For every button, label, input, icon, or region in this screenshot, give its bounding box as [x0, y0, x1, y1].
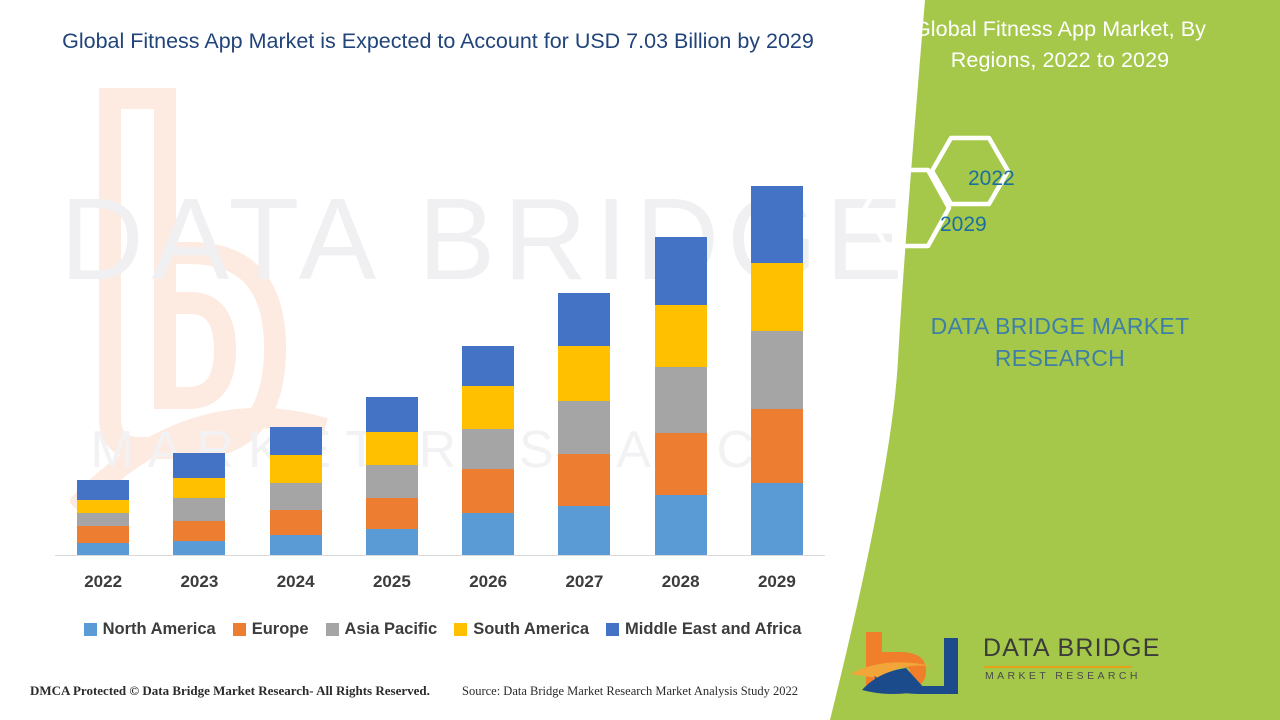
bar-segment[interactable] [751, 409, 803, 483]
legend-label: Asia Pacific [345, 620, 438, 639]
legend-item[interactable]: South America [454, 620, 589, 639]
bar-segment[interactable] [270, 510, 322, 535]
x-axis-label: 2024 [248, 572, 344, 592]
bar-segment[interactable] [77, 526, 129, 543]
bar-segment[interactable] [366, 529, 418, 556]
bar-segment[interactable] [462, 513, 514, 556]
x-axis-label: 2027 [536, 572, 632, 592]
bar-plot-area [55, 170, 825, 556]
legend-swatch [326, 623, 339, 636]
bar-segment[interactable] [751, 186, 803, 263]
chart-title: Global Fitness App Market is Expected to… [58, 25, 818, 58]
bar-column[interactable] [366, 397, 418, 556]
bar-segment[interactable] [655, 305, 707, 367]
bar-column[interactable] [751, 186, 803, 556]
bar-segment[interactable] [462, 386, 514, 429]
x-axis-label: 2026 [440, 572, 536, 592]
bar-segment[interactable] [366, 498, 418, 529]
bar-column[interactable] [558, 293, 610, 556]
legend-swatch [84, 623, 97, 636]
bar-column[interactable] [462, 346, 514, 556]
bar-segment[interactable] [366, 432, 418, 465]
bar-segment[interactable] [558, 454, 610, 506]
bar-segment[interactable] [173, 521, 225, 541]
logo-divider [984, 666, 1132, 668]
bar-segment[interactable] [173, 498, 225, 521]
logo-title: DATA BRIDGE [983, 634, 1161, 663]
bar-segment[interactable] [366, 397, 418, 432]
hexagon-group: 2029 2022 [840, 128, 1280, 278]
bar-segment[interactable] [558, 293, 610, 346]
bar-segment[interactable] [558, 506, 610, 556]
bar-segment[interactable] [751, 263, 803, 331]
legend-item[interactable]: North America [84, 620, 216, 639]
legend-label: North America [103, 620, 216, 639]
bar-segment[interactable] [270, 455, 322, 483]
chart-legend: North AmericaEuropeAsia PacificSouth Ame… [55, 616, 830, 642]
bar-segment[interactable] [270, 535, 322, 556]
x-axis-labels: 20222023202420252026202720282029 [55, 572, 825, 596]
x-axis-line [55, 555, 825, 556]
panel-title: Global Fitness App Market, By Regions, 2… [870, 14, 1250, 76]
bar-segment[interactable] [655, 367, 707, 433]
x-axis-label: 2022 [55, 572, 151, 592]
x-axis-label: 2023 [151, 572, 247, 592]
legend-item[interactable]: Europe [233, 620, 309, 639]
legend-item[interactable]: Asia Pacific [326, 620, 438, 639]
legend-label: Middle East and Africa [625, 620, 801, 639]
logo-subtitle: MARKET RESEARCH [985, 670, 1141, 682]
bar-segment[interactable] [462, 346, 514, 386]
legend-label: Europe [252, 620, 309, 639]
x-axis-label: 2028 [633, 572, 729, 592]
hex-label-2022: 2022 [968, 167, 1015, 191]
bar-segment[interactable] [655, 495, 707, 556]
bar-segment[interactable] [751, 483, 803, 556]
legend-swatch [454, 623, 467, 636]
bar-segment[interactable] [270, 483, 322, 510]
bar-column[interactable] [77, 480, 129, 556]
brand-panel: Global Fitness App Market, By Regions, 2… [830, 0, 1280, 720]
chart-page: DATA BRIDGE MARKET RESEARCH Global Fitne… [0, 0, 1280, 720]
legend-label: South America [473, 620, 589, 639]
bar-segment[interactable] [173, 453, 225, 478]
data-bridge-logo-icon [848, 628, 978, 700]
bar-segment[interactable] [270, 427, 322, 455]
brand-name: DATA BRIDGE MARKET RESEARCH [865, 310, 1255, 374]
x-axis-label: 2025 [344, 572, 440, 592]
bar-segment[interactable] [558, 401, 610, 454]
bar-segment[interactable] [77, 513, 129, 526]
bar-segment[interactable] [366, 465, 418, 498]
hex-label-2029: 2029 [940, 213, 987, 237]
bar-column[interactable] [270, 427, 322, 556]
bar-segment[interactable] [655, 237, 707, 305]
x-axis-label: 2029 [729, 572, 825, 592]
bar-segment[interactable] [173, 478, 225, 498]
bar-column[interactable] [655, 237, 707, 556]
company-logo: DATA BRIDGE MARKET RESEARCH [848, 628, 1278, 700]
bar-segment[interactable] [77, 480, 129, 500]
bar-segment[interactable] [77, 500, 129, 513]
legend-swatch [233, 623, 246, 636]
footer-copyright: DMCA Protected © Data Bridge Market Rese… [30, 683, 430, 699]
legend-swatch [606, 623, 619, 636]
footer-source: Source: Data Bridge Market Research Mark… [462, 684, 798, 699]
legend-item[interactable]: Middle East and Africa [606, 620, 801, 639]
bar-segment[interactable] [558, 346, 610, 401]
bar-segment[interactable] [462, 429, 514, 469]
bar-segment[interactable] [655, 433, 707, 495]
bar-column[interactable] [173, 453, 225, 556]
bar-segment[interactable] [462, 469, 514, 513]
bar-segment[interactable] [751, 331, 803, 409]
hexagons-icon [840, 128, 1280, 278]
bar-segment[interactable] [173, 541, 225, 556]
